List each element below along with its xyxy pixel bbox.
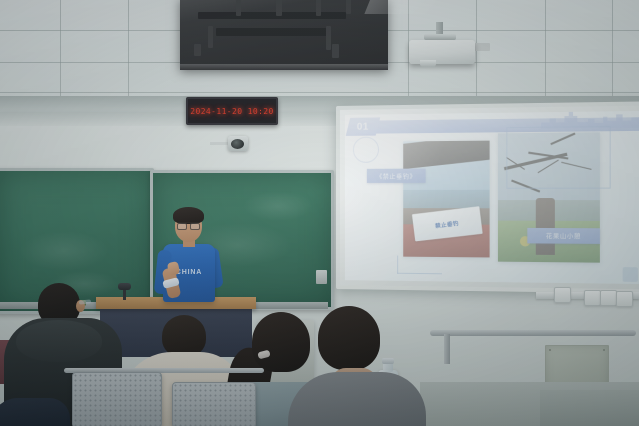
slide-decor-circle	[353, 137, 379, 163]
classroom-scene: 2024-11-20 10:20 01	[0, 0, 639, 426]
projector-lens-icon	[420, 60, 436, 67]
student-partial-foreground	[0, 398, 70, 426]
wall-outlet[interactable]	[600, 290, 617, 306]
led-text: 2024-11-20 10:20	[190, 107, 273, 116]
presentation-slide: 01 禁止垂钓	[345, 111, 639, 284]
chalkboard-panel-left	[0, 168, 154, 314]
projection-screen: 01 禁止垂钓	[336, 101, 639, 293]
panel-bottom-edge	[180, 64, 388, 70]
presenter-glasses-icon	[177, 222, 200, 228]
slide-caption-right-text: 花果山小憩	[546, 231, 581, 241]
stone-monument	[536, 198, 554, 255]
bottle-cap	[382, 358, 394, 364]
chair-back	[172, 382, 256, 426]
student-body	[288, 372, 426, 426]
wall-outlet[interactable]	[616, 291, 633, 307]
panel-glare	[364, 0, 437, 14]
student-head	[318, 306, 380, 370]
slide-accent-outline	[506, 126, 610, 189]
slide-section-badge: 01	[346, 117, 381, 135]
student-head	[162, 315, 206, 357]
floor-near	[540, 390, 639, 426]
camera-mount-arm	[210, 142, 230, 145]
wall-outlet[interactable]	[584, 290, 601, 306]
ceiling-projector	[409, 40, 475, 64]
camera-lens-icon	[231, 139, 244, 149]
wall-outlet[interactable]	[554, 287, 571, 303]
hoodie-hood	[16, 320, 102, 362]
slide-photo-seaside: 禁止垂钓	[403, 141, 489, 258]
student-head	[252, 312, 310, 372]
presenter-jersey-text: CHINA	[176, 269, 202, 276]
chair-back	[72, 372, 162, 426]
wall-junction-box	[316, 270, 327, 284]
slide-caption-left: 《禁止垂钓》	[367, 169, 426, 183]
slide-footer-logo	[623, 267, 638, 282]
slide-section-number: 01	[357, 121, 369, 132]
led-scrolling-board: 2024-11-20 10:20	[186, 97, 278, 125]
slide-caption-left-text: 《禁止垂钓》	[376, 171, 416, 180]
chair-post	[444, 334, 450, 364]
microphone-icon	[118, 283, 131, 290]
ceiling-mounted-display-back	[180, 0, 388, 68]
slide-caption-right: 花果山小憩	[527, 228, 600, 244]
chair-rail-right	[430, 330, 636, 336]
no-fishing-sign-text: 禁止垂钓	[435, 219, 460, 230]
